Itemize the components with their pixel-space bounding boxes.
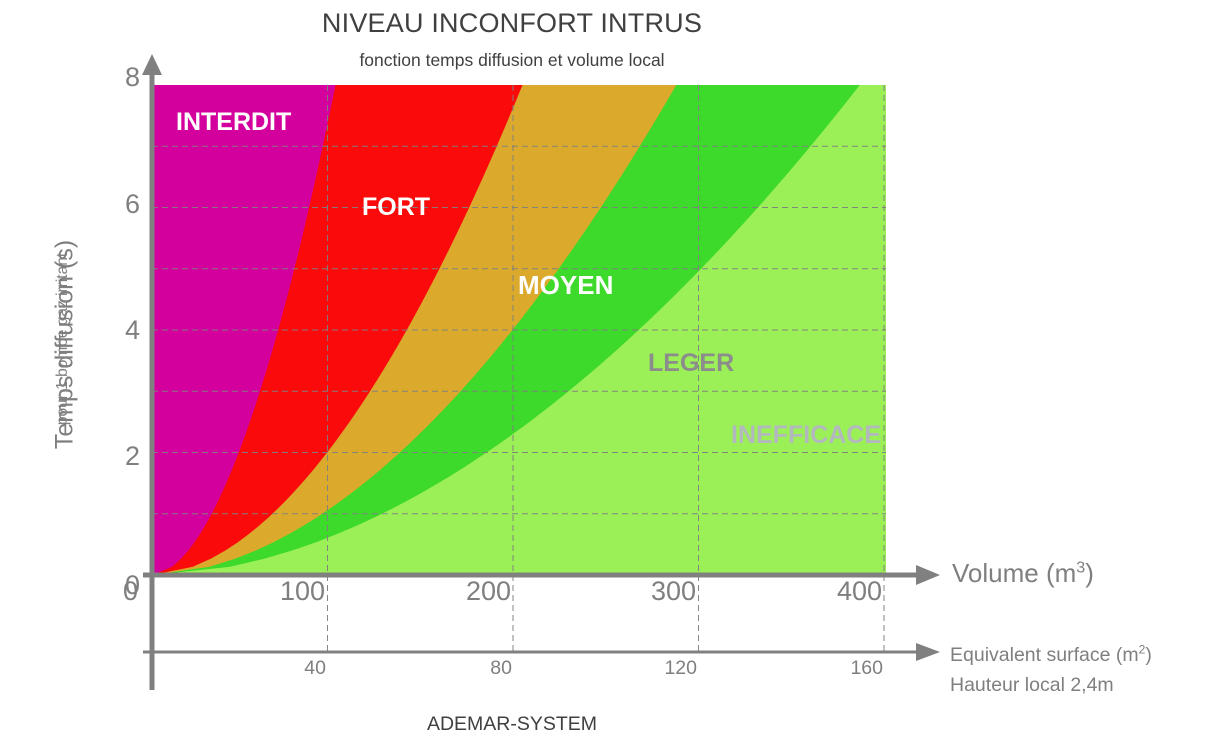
footer-brand: ADEMAR-SYSTEM: [0, 713, 1024, 736]
zone-label-leger: LEGER: [648, 351, 734, 376]
x-tick-300: 300: [604, 578, 696, 605]
x-axis-primary-caption-text: Volume (m: [952, 558, 1076, 588]
x-tick-100: 100: [233, 578, 325, 605]
x2-tick-40: 40: [252, 659, 326, 679]
x-axis-primary-caption-close: ): [1085, 558, 1094, 588]
x-tick-0: 0: [98, 578, 138, 605]
x-axis-secondary-note: Hauteur local 2,4m: [950, 674, 1114, 697]
chart-page: NIVEAU INCONFORT INTRUS fonction temps d…: [0, 0, 1214, 746]
zone-label-interdit: INTERDIT: [176, 110, 291, 135]
zone-label-fort: FORT: [362, 195, 430, 220]
x-axis-secondary-caption-close: ): [1145, 644, 1152, 666]
x2-tick-80: 80: [438, 659, 512, 679]
x-axis-secondary-caption: Equivalent surface (m2): [950, 644, 1152, 667]
x-tick-200: 200: [419, 578, 511, 605]
x-axis-primary-caption: Volume (m3): [952, 558, 1094, 589]
zone-label-inefficace: INEFFICACE: [731, 423, 881, 448]
zone-label-moyen: MOYEN: [518, 272, 613, 298]
x-tick-400: 400: [790, 578, 882, 605]
x2-tick-160: 160: [809, 659, 883, 679]
x2-tick-120: 120: [623, 659, 697, 679]
x-axis-primary-caption-exponent: 3: [1076, 558, 1085, 576]
x-axis-secondary-caption-text: Equivalent surface (m: [950, 644, 1139, 666]
